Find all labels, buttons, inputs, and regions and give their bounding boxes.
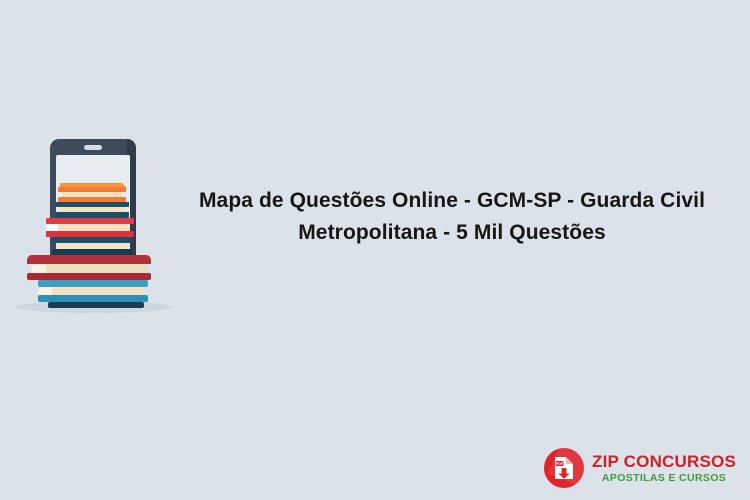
pdf-document-glyph: PDF	[553, 456, 575, 480]
logo-primary-text: ZIP CONCURSOS	[592, 453, 736, 470]
hero-banner: Mapa de Questões Online - GCM-SP - Guard…	[0, 112, 750, 322]
zip-concursos-logo[interactable]: PDF ZIP CONCURSOS APOSTILAS E CURSOS	[544, 448, 736, 488]
title-container: Mapa de Questões Online - GCM-SP - Guard…	[178, 171, 750, 263]
logo-text-block: ZIP CONCURSOS APOSTILAS E CURSOS	[592, 453, 736, 484]
books-illustration-lower-svg	[8, 117, 178, 317]
pdf-download-icon: PDF	[544, 448, 584, 488]
page-canvas: Mapa de Questões Online - GCM-SP - Guard…	[0, 0, 750, 500]
svg-text:PDF: PDF	[556, 462, 564, 466]
page-title: Mapa de Questões Online - GCM-SP - Guard…	[182, 185, 722, 249]
logo-secondary-text: APOSTILAS E CURSOS	[592, 473, 736, 484]
books-illustration	[8, 117, 178, 317]
